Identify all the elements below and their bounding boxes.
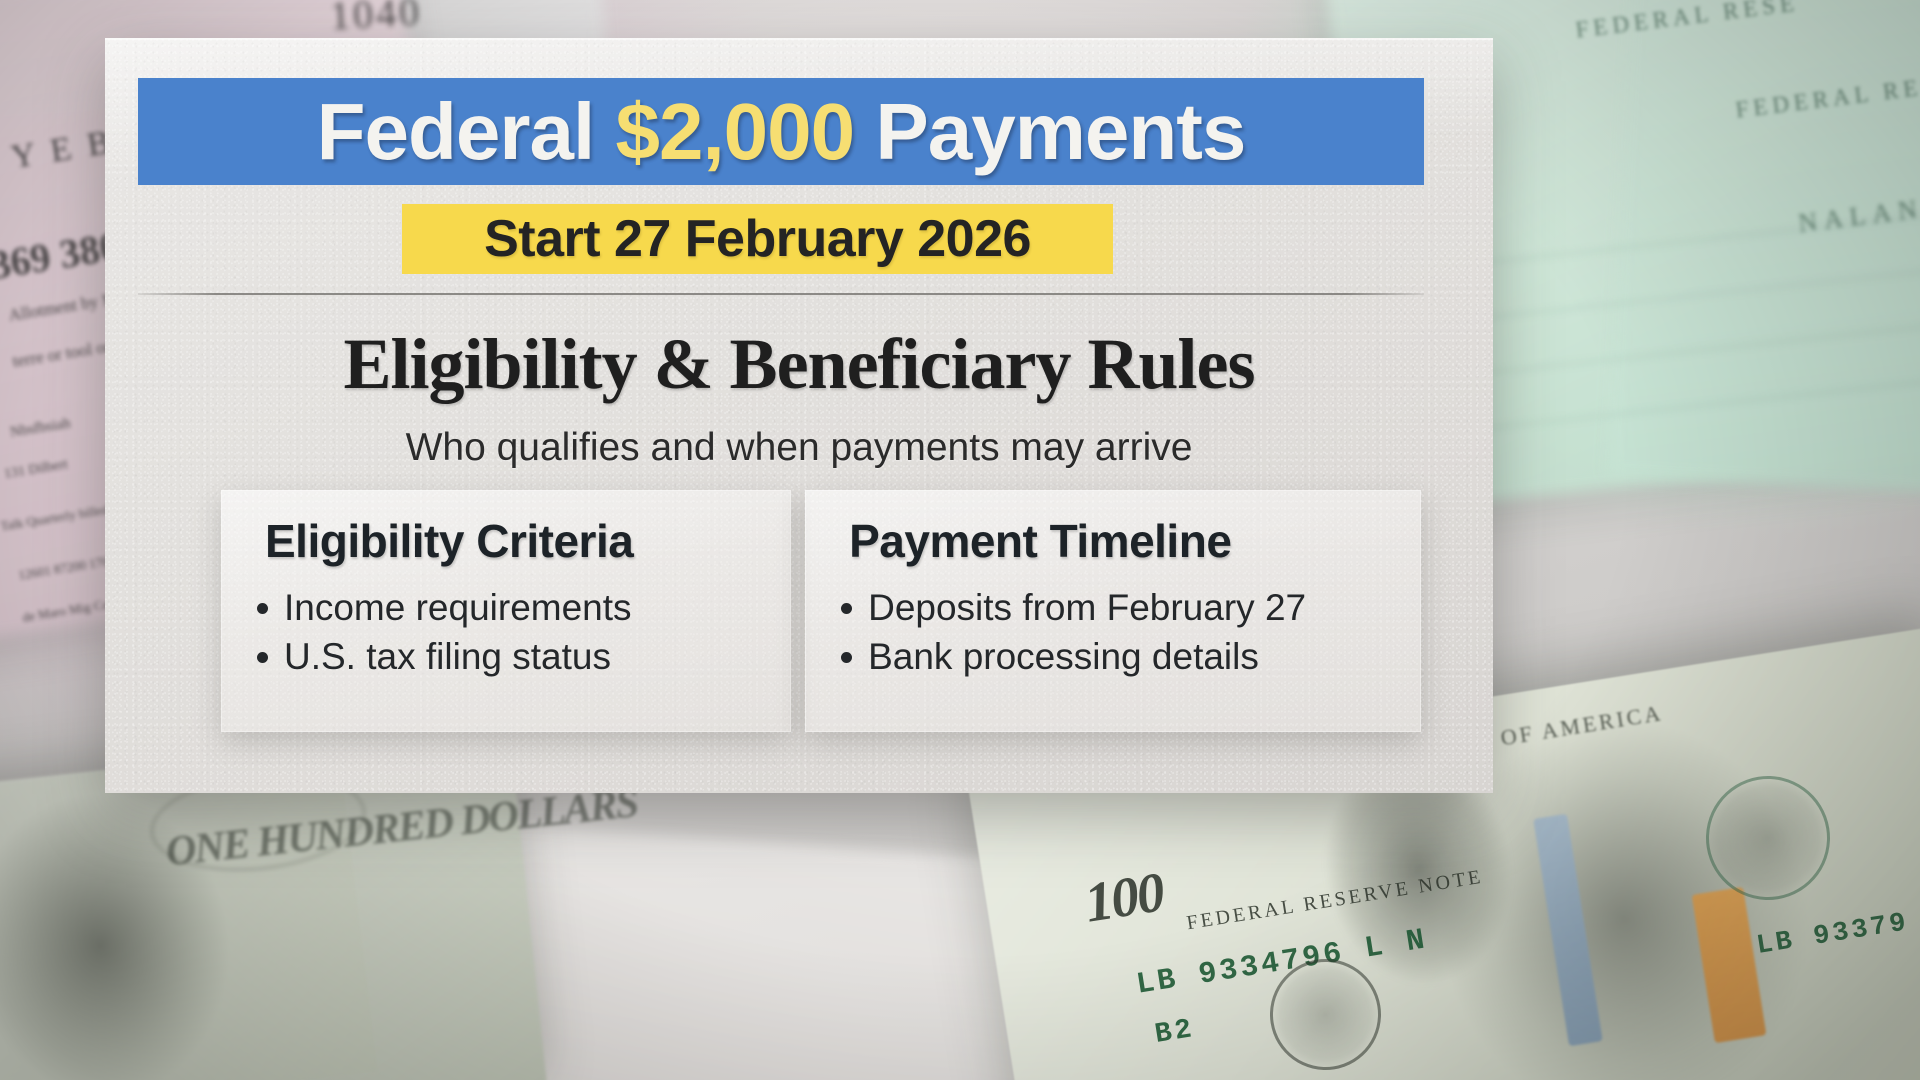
date-banner: Start 27 February 2026 (402, 204, 1113, 274)
bullet-text: Income requirements (284, 584, 632, 633)
top-document-label: 1040 (329, 0, 423, 39)
bullet-dot-icon (257, 603, 268, 614)
divider-rule (138, 293, 1424, 295)
list-item: Bank processing details (841, 633, 1391, 682)
poster-title: Federal $2,000 Payments (317, 86, 1246, 178)
list-item: Income requirements (257, 584, 761, 633)
bill-right-denomination: 100 (1080, 860, 1167, 935)
title-suffix: Payments (854, 87, 1245, 176)
list-item: Deposits from February 27 (841, 584, 1391, 633)
bullet-list-timeline: Deposits from February 27 Bank processin… (841, 584, 1391, 682)
card-title-timeline: Payment Timeline (849, 514, 1391, 568)
green-check-ruled-lines (1428, 214, 1920, 527)
bullet-dot-icon (841, 603, 852, 614)
bullet-text: U.S. tax filing status (284, 633, 611, 682)
date-banner-text: Start 27 February 2026 (484, 209, 1031, 269)
title-prefix: Federal (317, 87, 616, 176)
card-eligibility-criteria: Eligibility Criteria Income requirements… (221, 490, 791, 732)
subheadline: Who qualifies and when payments may arri… (105, 426, 1493, 470)
bullet-list-eligibility: Income requirements U.S. tax filing stat… (257, 584, 761, 682)
info-cards: Eligibility Criteria Income requirements… (221, 490, 1421, 740)
headline: Eligibility & Beneficiary Rules (105, 323, 1493, 406)
title-amount: $2,000 (615, 87, 854, 176)
bullet-dot-icon (841, 652, 852, 663)
bullet-text: Bank processing details (868, 633, 1259, 682)
bill-right-plate: B2 (1153, 1014, 1197, 1051)
screenshot-canvas: Y E B L I C Y 369 380 Allotment by Mail … (0, 0, 1920, 1080)
bullet-dot-icon (257, 652, 268, 663)
title-banner: Federal $2,000 Payments (138, 78, 1424, 185)
list-item: U.S. tax filing status (257, 633, 761, 682)
card-title-eligibility: Eligibility Criteria (265, 514, 761, 568)
card-payment-timeline: Payment Timeline Deposits from February … (805, 490, 1421, 732)
poster-panel: Federal $2,000 Payments Start 27 Februar… (105, 38, 1493, 793)
bullet-text: Deposits from February 27 (868, 584, 1306, 633)
